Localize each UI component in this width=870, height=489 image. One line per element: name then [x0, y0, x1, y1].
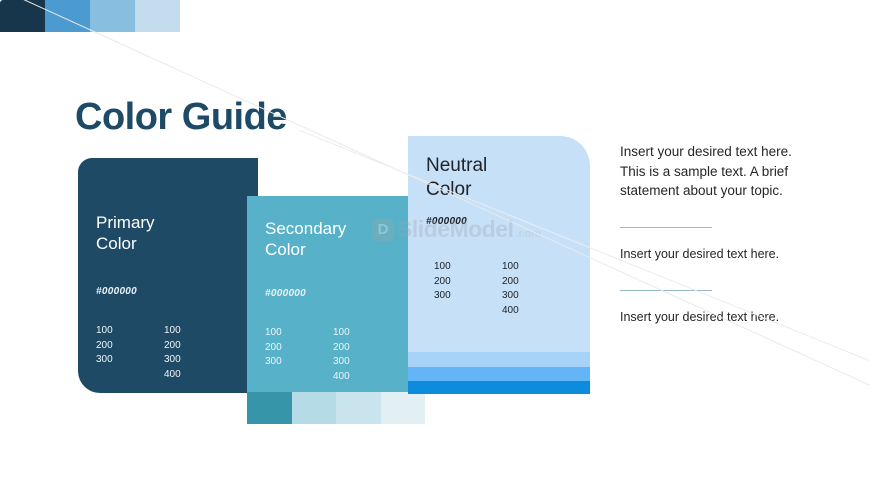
secondary-card-body: Secondary Color [265, 218, 415, 261]
page-title: Color Guide [75, 96, 287, 139]
primary-col-left-value: 100 [96, 324, 164, 339]
primary-swatch[interactable] [90, 0, 135, 32]
primary-col-left-value: 300 [96, 353, 164, 368]
neutral-band[interactable] [408, 367, 590, 381]
neutral-hex-wrap: #000000 [426, 216, 580, 227]
primary-title-line2: Color [96, 234, 137, 253]
primary-col-right: 100 200 300 400 [164, 324, 232, 382]
primary-card-body: Primary Color [96, 212, 248, 255]
secondary-swatch-strip [247, 392, 425, 424]
neutral-number-columns: 100 200 300 100 200 300 400 [434, 260, 580, 318]
primary-hex-wrap: #000000 [96, 286, 248, 297]
secondary-title-line1: Secondary [265, 219, 346, 238]
secondary-col-right: 100 200 300 400 [333, 326, 401, 384]
panel-paragraph: Insert your desired text here. [620, 246, 815, 264]
secondary-swatch[interactable] [292, 392, 337, 424]
neutral-col-left-value: 200 [434, 275, 502, 290]
primary-swatch[interactable] [0, 0, 45, 32]
secondary-col-right-value: 400 [333, 370, 401, 385]
color-card-neutral[interactable]: Neutral Color #000000 100 200 300 100 20… [408, 136, 590, 394]
primary-col-left: 100 200 300 [96, 324, 164, 382]
neutral-band[interactable] [408, 352, 590, 367]
neutral-col-left-value: 100 [434, 260, 502, 275]
secondary-number-columns: 100 200 300 100 200 300 400 [265, 326, 415, 384]
panel-divider [620, 227, 712, 229]
primary-col-left-value: 200 [96, 339, 164, 354]
primary-col-right-value: 300 [164, 353, 232, 368]
primary-hex-label: #000000 [96, 286, 248, 297]
primary-scale-wrap: 100 200 300 100 200 300 400 [96, 324, 248, 382]
secondary-swatch[interactable] [336, 392, 381, 424]
primary-swatch-strip [0, 0, 180, 32]
neutral-band-strip [408, 336, 590, 394]
secondary-col-right-value: 300 [333, 355, 401, 370]
primary-col-right-value: 400 [164, 368, 232, 383]
neutral-band[interactable] [408, 381, 590, 394]
secondary-hex-wrap: #000000 [265, 288, 415, 299]
secondary-col-right-value: 200 [333, 341, 401, 356]
secondary-col-left-value: 100 [265, 326, 333, 341]
slide-canvas: Color Guide Primary Color #000000 100 20… [0, 0, 870, 489]
secondary-swatch[interactable] [247, 392, 292, 424]
primary-swatch[interactable] [45, 0, 90, 32]
secondary-swatch[interactable] [381, 392, 426, 424]
primary-card-title: Primary Color [96, 212, 248, 255]
neutral-card-body: Neutral Color [426, 154, 580, 202]
secondary-col-left-value: 300 [265, 355, 333, 370]
primary-number-columns: 100 200 300 100 200 300 400 [96, 324, 248, 382]
neutral-title-line1: Neutral [426, 155, 487, 176]
secondary-scale-wrap: 100 200 300 100 200 300 400 [265, 326, 415, 384]
panel-paragraph: Insert your desired text here. [620, 309, 815, 327]
secondary-col-left: 100 200 300 [265, 326, 333, 384]
neutral-title-line2: Color [426, 179, 471, 200]
panel-divider [620, 290, 712, 292]
primary-title-line1: Primary [96, 213, 155, 232]
secondary-col-left-value: 200 [265, 341, 333, 356]
lead-paragraph: Insert your desired text here. This is a… [620, 142, 815, 201]
neutral-col-right-value: 300 [502, 289, 570, 304]
color-card-secondary[interactable]: Secondary Color #000000 100 200 300 100 … [247, 196, 425, 392]
neutral-band[interactable] [408, 336, 590, 352]
neutral-col-left: 100 200 300 [434, 260, 502, 318]
neutral-scale-wrap: 100 200 300 100 200 300 400 [434, 260, 580, 318]
neutral-col-right: 100 200 300 400 [502, 260, 570, 318]
primary-col-right-value: 100 [164, 324, 232, 339]
neutral-col-right-value: 100 [502, 260, 570, 275]
primary-col-right-value: 200 [164, 339, 232, 354]
primary-swatch[interactable] [135, 0, 180, 32]
neutral-card-title: Neutral Color [426, 154, 580, 202]
secondary-card-title: Secondary Color [265, 218, 415, 261]
secondary-col-right-value: 100 [333, 326, 401, 341]
neutral-col-left-value: 300 [434, 289, 502, 304]
color-card-primary[interactable]: Primary Color #000000 100 200 300 100 20… [78, 158, 258, 393]
neutral-col-right-value: 200 [502, 275, 570, 290]
secondary-hex-label: #000000 [265, 288, 415, 299]
neutral-hex-label: #000000 [426, 216, 580, 227]
neutral-col-right-value: 400 [502, 304, 570, 319]
secondary-title-line2: Color [265, 240, 306, 259]
text-panel: Insert your desired text here. This is a… [620, 142, 815, 327]
